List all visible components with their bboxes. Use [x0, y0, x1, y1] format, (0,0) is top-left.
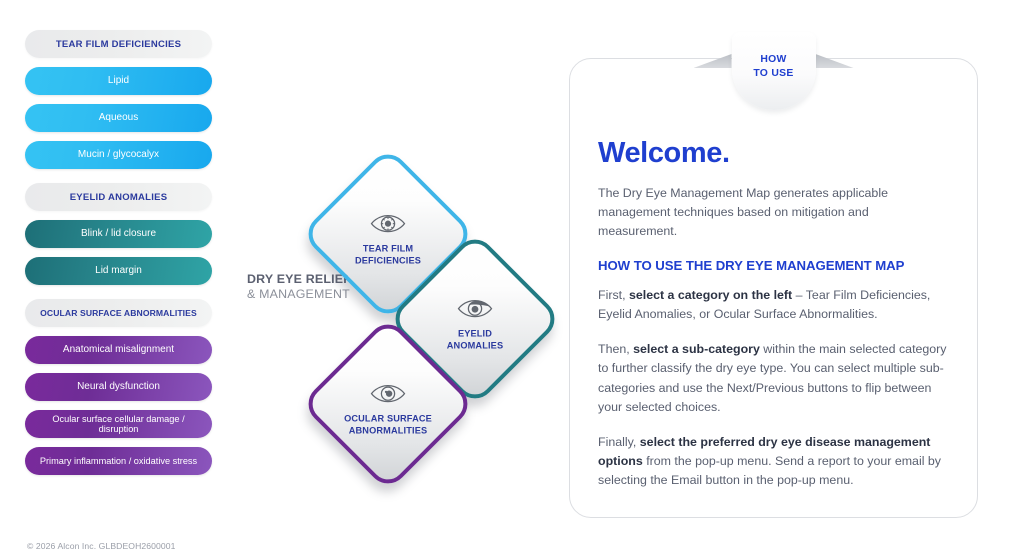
tab-label-line1: HOW [760, 54, 786, 65]
step-3-paragraph: Finally, select the preferred dry eye di… [598, 433, 949, 491]
subcategory-primary-inflammation[interactable]: Primary inflammation / oxidative stress [25, 447, 212, 475]
panel-body: Welcome. The Dry Eye Management Map gene… [570, 59, 977, 507]
intro-paragraph: The Dry Eye Management Map generates app… [598, 184, 949, 242]
how-to-use-heading: HOW TO USE THE DRY EYE MANAGEMENT MAP [598, 258, 949, 273]
subcategory-lid-margin[interactable]: Lid margin [25, 257, 212, 285]
diamond-label-line1: TEAR FILM [363, 244, 413, 254]
subcategory-anatomical-misalignment[interactable]: Anatomical misalignment [25, 336, 212, 364]
step-1-bold: select a category on the left [629, 288, 792, 302]
diamond-label-line2: ANOMALIES [447, 340, 503, 350]
diamond-label-ocular-surface: OCULAR SURFACE ABNORMALITIES [344, 414, 432, 436]
category-sidebar: TEAR FILM DEFICIENCIES Lipid Aqueous Muc… [25, 30, 212, 489]
step-2-lead: Then, [598, 342, 633, 356]
category-group-tear-film: TEAR FILM DEFICIENCIES Lipid Aqueous Muc… [25, 30, 212, 169]
category-group-ocular-surface: OCULAR SURFACE ABNORMALITIES Anatomical … [25, 299, 212, 475]
page-title: Welcome. [598, 137, 949, 170]
subcategory-mucin-glycocalyx[interactable]: Mucin / glycocalyx [25, 141, 212, 169]
tab-label-line2: TO USE [753, 68, 793, 79]
diamond-label-tear-film: TEAR FILM DEFICIENCIES [355, 244, 421, 266]
copyright-footer: © 2026 Alcon Inc. GLBDEOH2600001 [27, 541, 176, 551]
subcategory-blink-lid-closure[interactable]: Blink / lid closure [25, 220, 212, 248]
eye-iris-icon [370, 213, 406, 240]
step-3-rest: from the pop-up menu. Send a report to y… [598, 454, 941, 487]
step-2-bold: select a sub-category [633, 342, 760, 356]
category-header-eyelid-anomalies[interactable]: EYELID ANOMALIES [25, 183, 212, 211]
how-to-use-tab[interactable]: HOW TO USE [732, 32, 816, 110]
category-header-ocular-surface-abnormalities[interactable]: OCULAR SURFACE ABNORMALITIES [25, 299, 212, 327]
step-3-lead: Finally, [598, 435, 640, 449]
diamond-label-line2: ABNORMALITIES [349, 425, 428, 435]
subcategory-aqueous[interactable]: Aqueous [25, 104, 212, 132]
how-to-use-tab-label: HOW TO USE [753, 53, 793, 80]
dry-eye-diagram: DRY EYE RELIEF & MANAGEMENT TEAR FILM DE… [240, 150, 560, 450]
step-1-lead: First, [598, 288, 629, 302]
step-2-paragraph: Then, select a sub-category within the m… [598, 340, 949, 417]
category-header-tear-film[interactable]: TEAR FILM DEFICIENCIES [25, 30, 212, 58]
category-group-eyelid-anomalies: EYELID ANOMALIES Blink / lid closure Lid… [25, 183, 212, 285]
subcategory-neural-dysfunction[interactable]: Neural dysfunction [25, 373, 212, 401]
diamond-label-eyelid: EYELID ANOMALIES [447, 329, 503, 351]
diamond-label-line1: OCULAR SURFACE [344, 414, 432, 424]
subcategory-lipid[interactable]: Lipid [25, 67, 212, 95]
diamond-label-line1: EYELID [458, 329, 492, 339]
step-1-paragraph: First, select a category on the left – T… [598, 286, 949, 324]
diamond-label-line2: DEFICIENCIES [355, 255, 421, 265]
eye-lid-icon [457, 298, 493, 325]
subcategory-ocular-surface-cellular-damage[interactable]: Ocular surface cellular damage / disrupt… [25, 410, 212, 438]
how-to-use-panel: HOW TO USE Welcome. The Dry Eye Manageme… [569, 58, 978, 518]
eye-surface-icon [370, 383, 406, 410]
